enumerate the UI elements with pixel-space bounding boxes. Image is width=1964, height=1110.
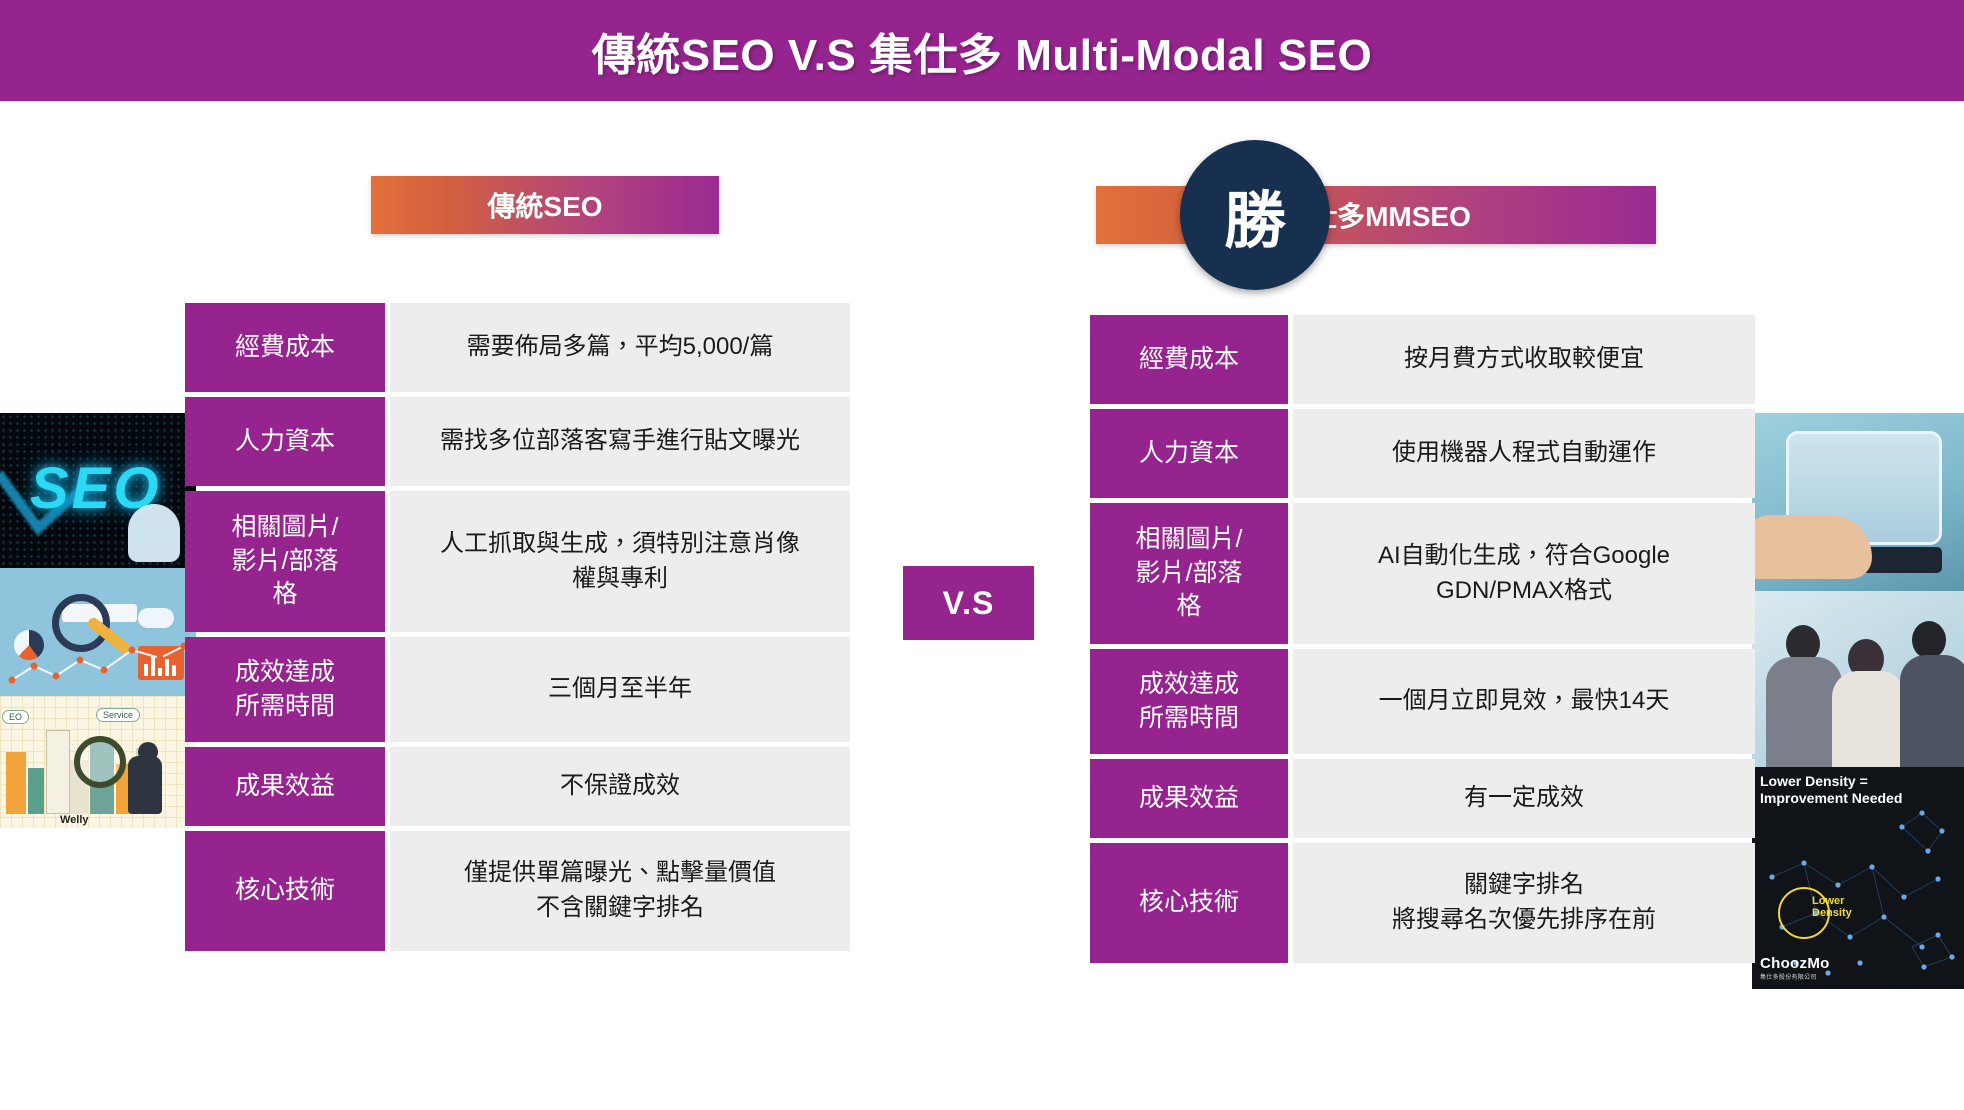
row-value: 不保證成效 bbox=[390, 747, 850, 826]
lower-density-label: Lower Density bbox=[1812, 895, 1852, 919]
choozmo-logo-text: ChoozMo bbox=[1760, 955, 1830, 972]
business-people-photo bbox=[1752, 591, 1964, 767]
table-row: 相關圖片/ 影片/部落 格 人工抓取與生成，須特別注意肖像 權與專利 bbox=[185, 491, 850, 632]
table-row: 成果效益 有一定成效 bbox=[1090, 759, 1755, 838]
person-body-shape bbox=[128, 756, 162, 814]
table-row: 核心技術 僅提供單篇曝光、點擊量價值 不含關鍵字排名 bbox=[185, 831, 850, 951]
table-row: 成效達成 所需時間 一個月立即見效，最快14天 bbox=[1090, 649, 1755, 754]
row-label: 成效達成 所需時間 bbox=[185, 637, 385, 742]
hand-shape bbox=[1752, 515, 1872, 579]
table-row: 核心技術 關鍵字排名 將搜尋名次優先排序在前 bbox=[1090, 843, 1755, 963]
cloud-icon bbox=[138, 608, 174, 628]
person-head-shape bbox=[1912, 621, 1946, 659]
choozmo-logo: ChoozMo 集仕多股份有限公司 bbox=[1760, 955, 1830, 981]
table-row: 成果效益 不保證成效 bbox=[185, 747, 850, 826]
row-value: 使用機器人程式自動運作 bbox=[1293, 409, 1755, 498]
winner-badge: 勝 bbox=[1180, 140, 1330, 290]
magnifier-icon bbox=[74, 736, 126, 788]
row-value: 人工抓取與生成，須特別注意肖像 權與專利 bbox=[390, 491, 850, 632]
row-label: 相關圖片/ 影片/部落 格 bbox=[1090, 503, 1288, 644]
row-value: 按月費方式收取較便宜 bbox=[1293, 315, 1755, 404]
comparison-table-traditional: 經費成本 需要佈局多篇，平均5,000/篇 人力資本 需找多位部落客寫手進行貼文… bbox=[185, 303, 850, 951]
density-graph-photo: Lower Density = Improvement Needed Lower… bbox=[1752, 767, 1964, 989]
table-row: 經費成本 需要佈局多篇，平均5,000/篇 bbox=[185, 303, 850, 392]
hand-phone-photo bbox=[1752, 413, 1964, 591]
choozmo-logo-sub: 集仕多股份有限公司 bbox=[1760, 972, 1830, 981]
row-label: 人力資本 bbox=[185, 397, 385, 486]
table-row: 人力資本 使用機器人程式自動運作 bbox=[1090, 409, 1755, 498]
person-body-shape bbox=[1900, 655, 1964, 767]
line-chart-graphic bbox=[8, 640, 188, 686]
slide-canvas: 傳統SEO V.S 集仕多 Multi-Modal SEO SEO bbox=[0, 0, 1964, 1110]
row-value: 需找多位部落客寫手進行貼文曝光 bbox=[390, 397, 850, 486]
table-row: 經費成本 按月費方式收取較便宜 bbox=[1090, 315, 1755, 404]
building-shape bbox=[46, 730, 70, 814]
seo-flat-illustration bbox=[0, 568, 196, 696]
slide-title-bar: 傳統SEO V.S 集仕多 Multi-Modal SEO bbox=[0, 0, 1964, 101]
row-value: 三個月至半年 bbox=[390, 637, 850, 742]
speech-bubble-service: Service bbox=[96, 708, 140, 722]
cursor-hand-icon bbox=[128, 504, 180, 562]
vs-chip: V.S bbox=[903, 566, 1034, 640]
welly-watermark: Welly bbox=[60, 814, 89, 826]
row-label: 經費成本 bbox=[185, 303, 385, 392]
building-shape bbox=[28, 768, 44, 814]
column-header-traditional-label: 傳統SEO bbox=[487, 185, 602, 225]
row-label: 人力資本 bbox=[1090, 409, 1288, 498]
comparison-table-mmseo: 經費成本 按月費方式收取較便宜 人力資本 使用機器人程式自動運作 相關圖片/ 影… bbox=[1090, 315, 1755, 963]
table-row: 成效達成 所需時間 三個月至半年 bbox=[185, 637, 850, 742]
vs-chip-label: V.S bbox=[943, 585, 995, 622]
seo-city-illustration: EO Service Welly bbox=[0, 696, 196, 828]
row-label: 核心技術 bbox=[1090, 843, 1288, 963]
row-value: AI自動化生成，符合Google GDN/PMAX格式 bbox=[1293, 503, 1755, 644]
row-value: 關鍵字排名 將搜尋名次優先排序在前 bbox=[1293, 843, 1755, 963]
seo-neon-photo: SEO bbox=[0, 413, 196, 568]
row-value: 有一定成效 bbox=[1293, 759, 1755, 838]
row-value: 一個月立即見效，最快14天 bbox=[1293, 649, 1755, 754]
row-value: 需要佈局多篇，平均5,000/篇 bbox=[390, 303, 850, 392]
building-shape bbox=[6, 752, 26, 814]
row-label: 核心技術 bbox=[185, 831, 385, 951]
row-value: 僅提供單篇曝光、點擊量價值 不含關鍵字排名 bbox=[390, 831, 850, 951]
row-label: 成果效益 bbox=[185, 747, 385, 826]
person-body-shape bbox=[1766, 657, 1842, 767]
row-label: 相關圖片/ 影片/部落 格 bbox=[185, 491, 385, 632]
speech-bubble-seo: EO bbox=[2, 710, 29, 724]
person-body-shape bbox=[1832, 671, 1906, 767]
row-label: 成效達成 所需時間 bbox=[1090, 649, 1288, 754]
row-label: 經費成本 bbox=[1090, 315, 1288, 404]
column-header-traditional: 傳統SEO bbox=[371, 176, 719, 234]
row-label: 成果效益 bbox=[1090, 759, 1288, 838]
page-title: 傳統SEO V.S 集仕多 Multi-Modal SEO bbox=[592, 19, 1373, 83]
table-row: 相關圖片/ 影片/部落 格 AI自動化生成，符合Google GDN/PMAX格… bbox=[1090, 503, 1755, 644]
winner-badge-label: 勝 bbox=[1224, 170, 1286, 260]
table-row: 人力資本 需找多位部落客寫手進行貼文曝光 bbox=[185, 397, 850, 486]
